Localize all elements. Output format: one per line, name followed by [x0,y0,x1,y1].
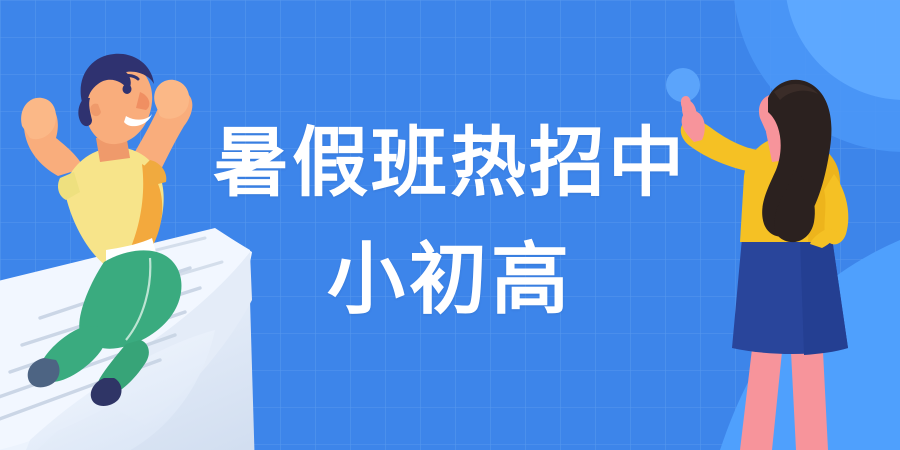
promo-banner: 暑假班热招中 小初高 [0,0,900,450]
woman-finger-index [681,96,691,110]
woman-skirt-shadow [800,238,848,355]
illustration-pointing-woman [0,0,900,450]
